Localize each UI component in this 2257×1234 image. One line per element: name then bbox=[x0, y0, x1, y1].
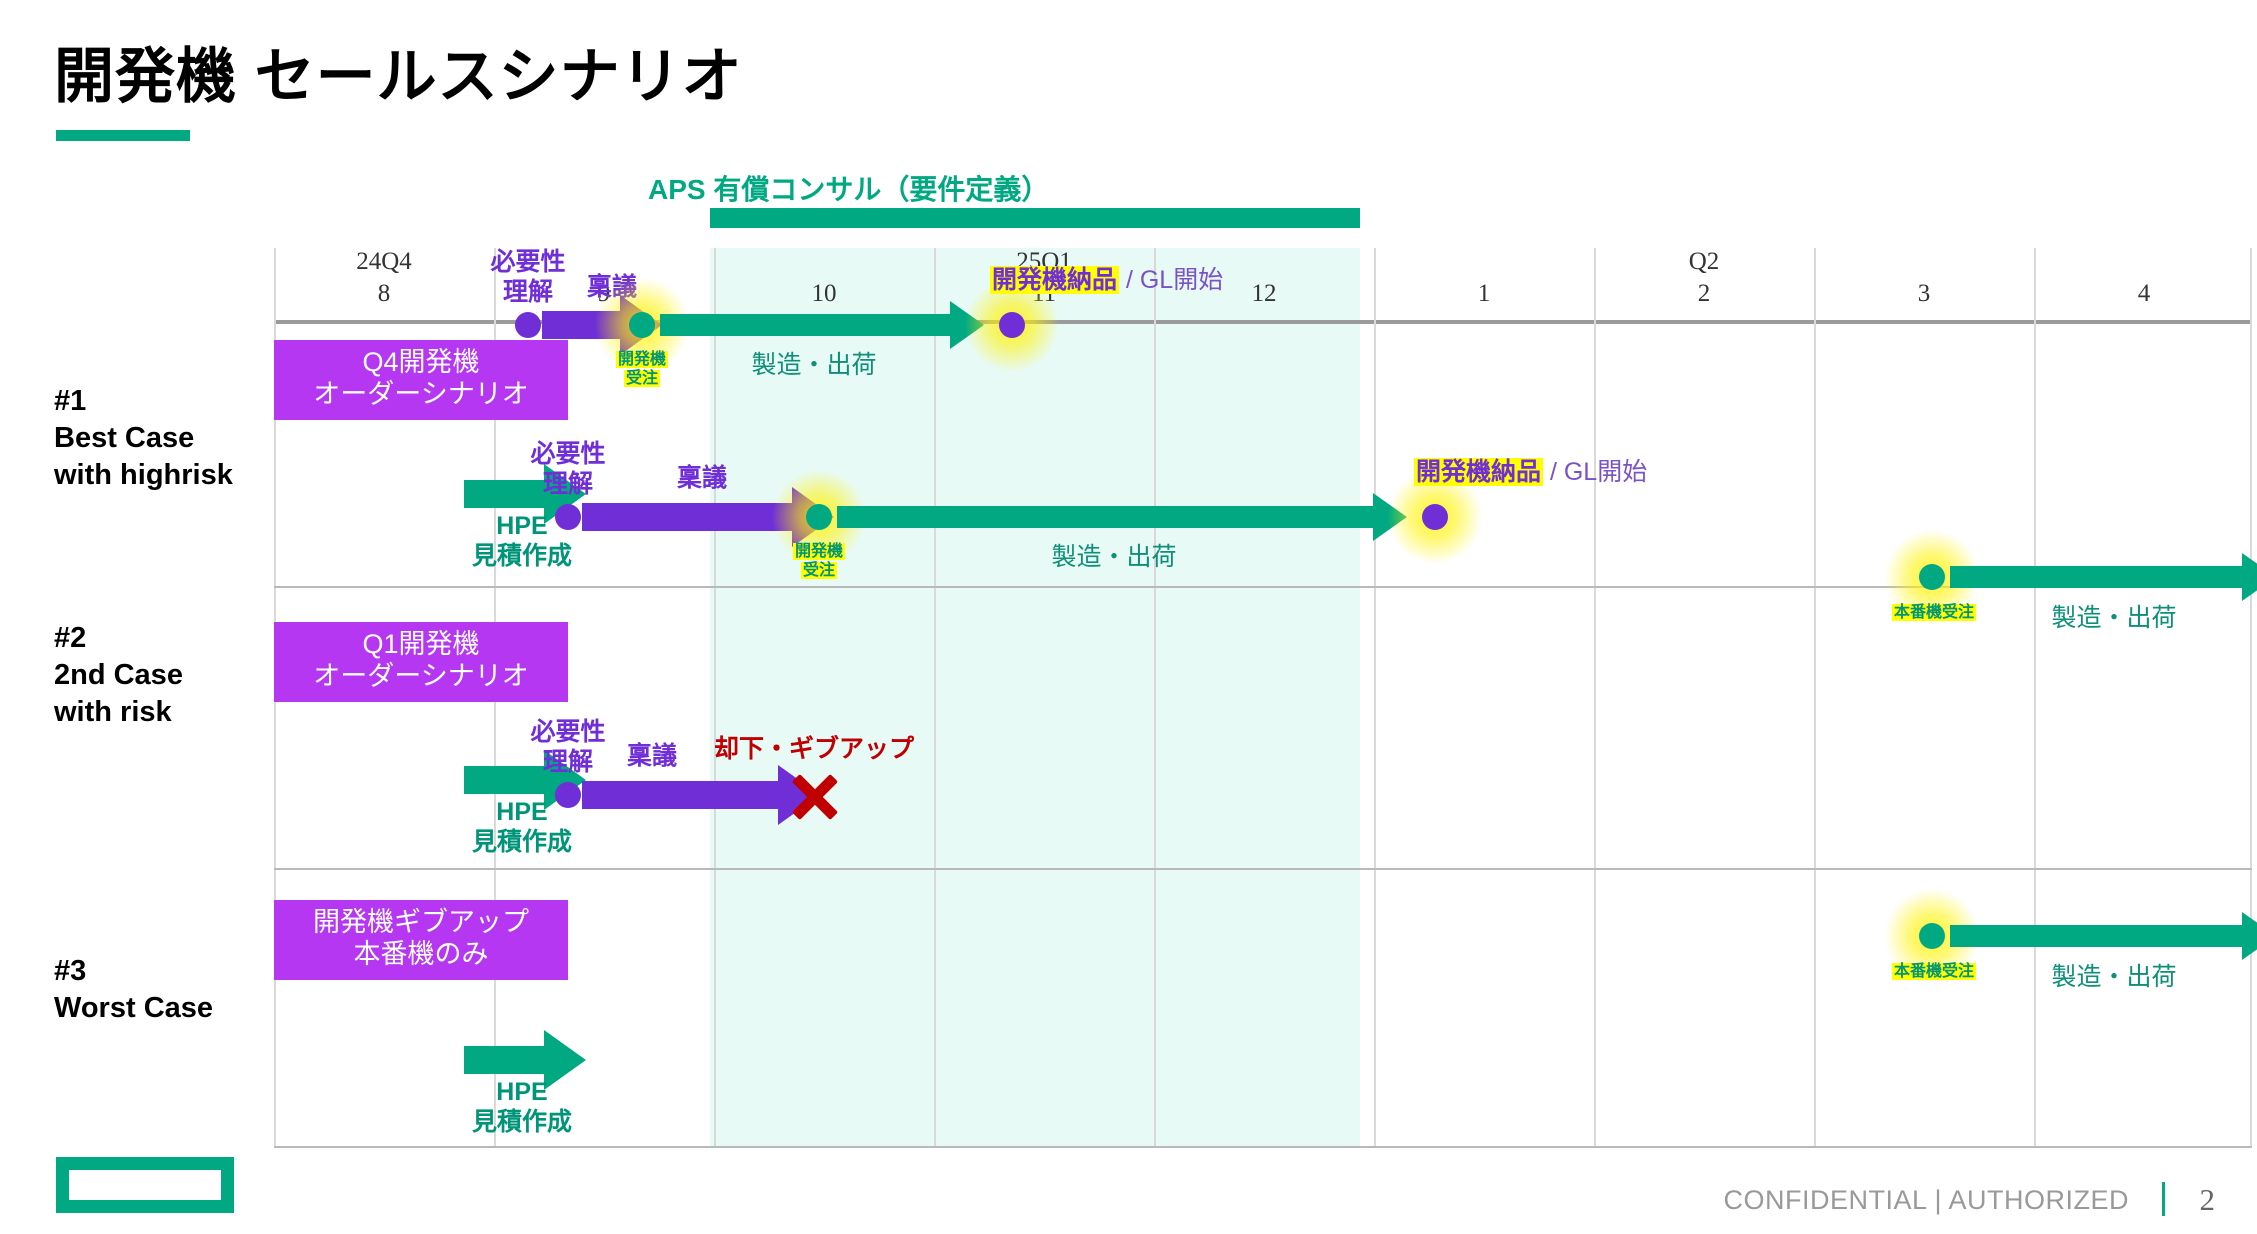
row-separator bbox=[274, 868, 2252, 870]
page-number: 2 bbox=[2200, 1182, 2216, 1218]
row-label-1: #1 Best Case with highrisk bbox=[54, 383, 233, 494]
gridline bbox=[714, 248, 716, 1148]
row3-prod-manufacture-label: 製造・出荷 bbox=[2051, 963, 2176, 993]
row2-prod-manufacture-label: 製造・出荷 bbox=[2051, 604, 2176, 634]
row1-order-label: 開発機 受注 bbox=[616, 351, 668, 389]
row3-hpe-quote-label: HPE 見積作成 bbox=[472, 1078, 572, 1137]
gridline bbox=[1154, 248, 1156, 1148]
row1-manufacture-arrow bbox=[660, 314, 982, 336]
row2-delivery-label: 開発機納品 / GL開始 bbox=[1414, 458, 1647, 488]
scenario-badge-1[interactable]: Q4開発機 オーダーシナリオ bbox=[274, 340, 568, 420]
row3-prod-order-dot bbox=[1919, 923, 1945, 949]
row3-reject-x-icon bbox=[788, 770, 842, 824]
row3-hpe-quote-arrow bbox=[464, 1046, 580, 1074]
hpe-logo bbox=[56, 1157, 234, 1213]
consult-phase-text: APS 有償コンサル（要件定義） bbox=[648, 168, 1049, 208]
confidentiality-notice: CONFIDENTIAL | AUTHORIZED bbox=[1723, 1185, 2129, 1216]
row1-delivery-label: 開発機納品 / GL開始 bbox=[990, 266, 1223, 296]
gridline bbox=[2250, 248, 2252, 1148]
row1-order-dot bbox=[629, 312, 655, 338]
row2-prod-order-label: 本番機受注 bbox=[1892, 604, 1976, 623]
row2-prod-manufacture-arrow bbox=[1950, 566, 2257, 588]
consult-phase-bar bbox=[710, 208, 1360, 228]
timeline-chart: 24Q4 25Q1 Q2 8 9 10 11 12 1 2 3 4 bbox=[274, 248, 2252, 1148]
row3-necessity-dot bbox=[555, 782, 581, 808]
gridline bbox=[2034, 248, 2036, 1148]
row2-prod-order-dot bbox=[1919, 564, 1945, 590]
row2-manufacture-arrow bbox=[837, 506, 1405, 528]
row2-necessity-dot bbox=[555, 504, 581, 530]
row2-delivery-dot bbox=[1422, 504, 1448, 530]
row3-reject-label: 却下・ギブアップ bbox=[714, 735, 914, 765]
month-label-1: 1 bbox=[1374, 280, 1594, 308]
row2-manufacture-label: 製造・出荷 bbox=[1051, 543, 1176, 573]
quarter-label-q2: Q2 bbox=[1594, 248, 1814, 276]
row1-manufacture-label: 製造・出荷 bbox=[751, 351, 876, 381]
row3-ringi-label: 稟議 bbox=[627, 742, 677, 772]
month-label-3: 3 bbox=[1814, 280, 2034, 308]
row3-prod-order-label: 本番機受注 bbox=[1892, 963, 1976, 982]
row3-prod-manufacture-arrow bbox=[1950, 925, 2257, 947]
title-accent-rule bbox=[56, 130, 190, 141]
row2-order-dot bbox=[806, 504, 832, 530]
slide-canvas: 開発機 セールスシナリオ APS 有償コンサル（要件定義） 24Q4 25Q1 … bbox=[0, 0, 2257, 1234]
row2-necessity-label: 必要性 理解 bbox=[530, 440, 605, 499]
row-label-3: #3 Worst Case bbox=[54, 953, 213, 1027]
row2-hpe-quote-label: HPE 見積作成 bbox=[472, 798, 572, 857]
row1-delivery-dot bbox=[999, 312, 1025, 338]
row1-necessity-dot bbox=[515, 312, 541, 338]
gridline bbox=[1374, 248, 1376, 1148]
row3-necessity-label: 必要性 理解 bbox=[530, 718, 605, 777]
month-label-10: 10 bbox=[714, 280, 934, 308]
gridline bbox=[1594, 248, 1596, 1148]
scenario-badge-2[interactable]: Q1開発機 オーダーシナリオ bbox=[274, 622, 568, 702]
row-label-2: #2 2nd Case with risk bbox=[54, 620, 183, 731]
scenario-badge-3[interactable]: 開発機ギブアップ 本番機のみ bbox=[274, 900, 568, 980]
quarter-label-24q4: 24Q4 bbox=[274, 248, 494, 276]
row2-ringi-label: 稟議 bbox=[677, 464, 727, 494]
row-separator bbox=[274, 1146, 2252, 1148]
month-label-8: 8 bbox=[274, 280, 494, 308]
gridline bbox=[1814, 248, 1816, 1148]
month-label-4: 4 bbox=[2034, 280, 2254, 308]
row3-ringi-arrow bbox=[582, 781, 816, 809]
page-title: 開発機 セールスシナリオ bbox=[54, 28, 743, 115]
row2-order-label: 開発機 受注 bbox=[793, 543, 845, 581]
gridline bbox=[934, 248, 936, 1148]
month-label-2: 2 bbox=[1594, 280, 1814, 308]
footer-divider bbox=[2162, 1182, 2165, 1216]
row1-necessity-label: 必要性 理解 bbox=[490, 248, 565, 307]
